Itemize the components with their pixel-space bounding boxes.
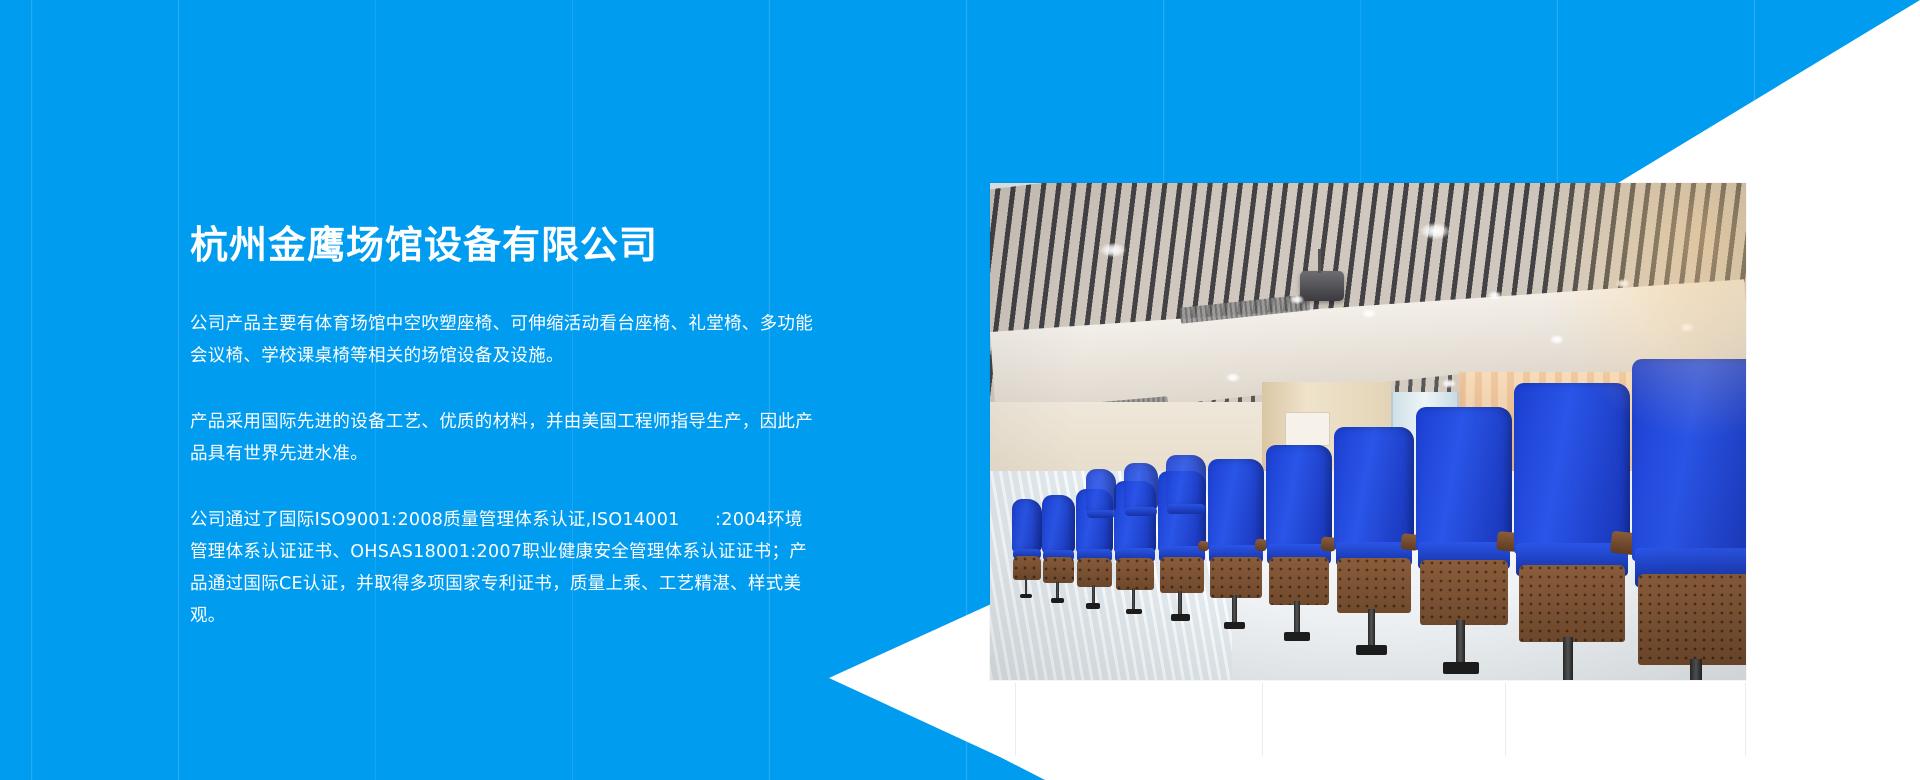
auditorium-seat	[1042, 495, 1075, 589]
seat-rows	[990, 183, 1746, 680]
hero-paragraph-products: 公司产品主要有体育场馆中空吹塑座椅、可伸缩活动看台座椅、礼堂椅、多功能会议椅、学…	[190, 308, 820, 372]
bottom-divider-lines	[0, 683, 1920, 756]
hero-copy: 杭州金鹰场馆设备有限公司 公司产品主要有体育场馆中空吹塑座椅、可伸缩活动看台座椅…	[190, 222, 820, 632]
auditorium-seat-back-row	[1166, 455, 1206, 539]
hero-banner: 杭州金鹰场馆设备有限公司 公司产品主要有体育场馆中空吹塑座椅、可伸缩活动看台座椅…	[0, 0, 1920, 780]
hero-paragraph-quality: 产品采用国际先进的设备工艺、优质的材料，并由美国工程师指导生产，因此产品具有世界…	[190, 406, 820, 470]
auditorium-seat	[1334, 427, 1414, 625]
page-title: 杭州金鹰场馆设备有限公司	[190, 222, 820, 268]
hero-paragraph-certifications: 公司通过了国际ISO9001:2008质量管理体系认证,ISO14001 :20…	[190, 504, 820, 632]
photo-canvas	[990, 183, 1746, 680]
auditorium-seat	[1632, 359, 1746, 680]
auditorium-seat-back-row	[1124, 463, 1158, 539]
auditorium-seat	[1012, 499, 1042, 585]
auditorium-photo	[990, 183, 1746, 680]
auditorium-seat	[1514, 383, 1630, 659]
auditorium-seat-back-row	[1086, 469, 1116, 539]
auditorium-seat	[1266, 445, 1332, 615]
auditorium-seat	[1208, 459, 1264, 607]
auditorium-seat	[1416, 407, 1512, 639]
